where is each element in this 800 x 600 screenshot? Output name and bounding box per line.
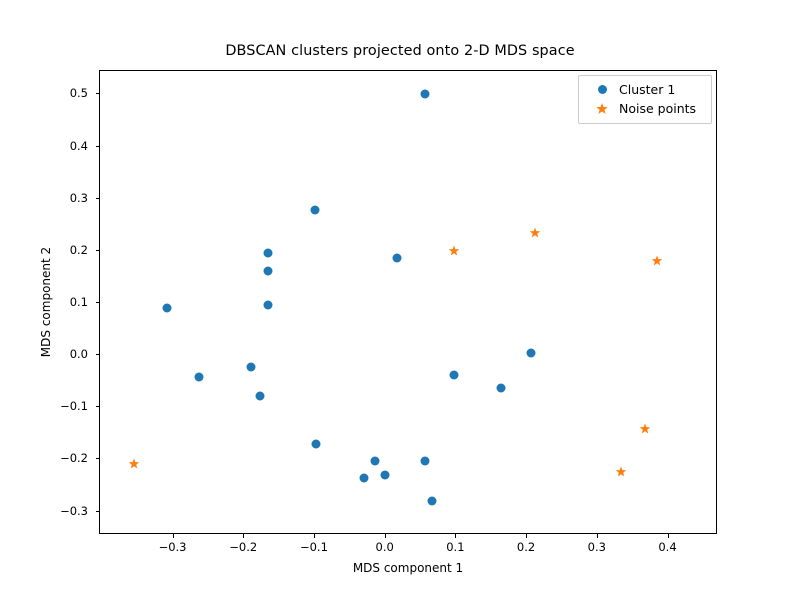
scatter-point [392,253,401,262]
x-axis-tick [173,534,174,538]
x-axis-tick [243,534,244,538]
scatter-point [359,473,368,482]
y-axis-tick-label: −0.1 [60,399,88,413]
y-axis-tick-label: 0.3 [70,191,88,205]
scatter-point [640,424,651,435]
legend-item[interactable]: Cluster 1 [585,80,705,99]
y-axis-tick [96,93,100,94]
circle-marker-icon [585,85,619,94]
x-axis-tick-label: 0.3 [588,540,606,554]
star-marker-icon [585,103,619,115]
y-axis-tick [96,458,100,459]
y-axis-label: MDS component 2 [38,70,54,534]
legend: Cluster 1Noise points [578,75,712,124]
x-axis-tick [668,534,669,538]
x-axis-tick [597,534,598,538]
y-axis-tick-label: 0.5 [70,86,88,100]
x-axis-tick-label: −0.3 [159,540,187,554]
scatter-point [263,300,272,309]
scatter-point [616,466,627,477]
legend-item-label: Cluster 1 [619,82,675,97]
x-axis-tick-label: 0.0 [376,540,394,554]
matplotlib-figure: DBSCAN clusters projected onto 2-D MDS s… [0,0,800,600]
legend-item-label: Noise points [619,101,696,116]
x-axis-tick-label: 0.1 [446,540,464,554]
y-axis-tick-label: 0.1 [70,295,88,309]
y-axis-tick-label: 0.0 [70,347,88,361]
scatter-point [311,439,320,448]
chart-title: DBSCAN clusters projected onto 2-D MDS s… [0,43,800,59]
x-axis-label: MDS component 1 [99,561,717,575]
scatter-point [371,456,380,465]
scatter-point [263,249,272,258]
scatter-point [529,227,540,238]
scatter-point [194,373,203,382]
x-axis-tick [385,534,386,538]
scatter-point [380,471,389,480]
x-axis-tick-label: 0.4 [658,540,676,554]
y-axis-tick [96,250,100,251]
scatter-point [496,383,505,392]
scatter-point [420,457,429,466]
scatter-point [449,370,458,379]
x-axis-tick-label: −0.1 [300,540,328,554]
scatter-point [247,363,256,372]
x-axis-tick [526,534,527,538]
scatter-point [264,267,273,276]
x-axis-tick-label: 0.2 [517,540,535,554]
y-axis-tick [96,406,100,407]
x-axis-tick-label: −0.2 [229,540,257,554]
scatter-point [255,392,264,401]
legend-item[interactable]: Noise points [585,99,705,118]
y-axis-tick [96,198,100,199]
scatter-point [128,459,139,470]
scatter-point [448,245,459,256]
scatter-point [310,206,319,215]
y-axis-tick [96,146,100,147]
scatter-point [427,497,436,506]
y-axis-tick [96,354,100,355]
scatter-point [163,303,172,312]
scatter-point [652,255,663,266]
y-axis-tick [96,302,100,303]
y-axis-tick-label: −0.3 [60,504,88,518]
y-axis-tick-label: −0.2 [60,451,88,465]
y-axis-tick [96,511,100,512]
scatter-point [421,89,430,98]
x-axis-tick [314,534,315,538]
scatter-points-layer [100,71,716,533]
x-axis-tick [455,534,456,538]
scatter-point [526,348,535,357]
plot-axes-area [99,70,717,534]
y-axis-tick-label: 0.4 [70,139,88,153]
y-axis-tick-label: 0.2 [70,243,88,257]
